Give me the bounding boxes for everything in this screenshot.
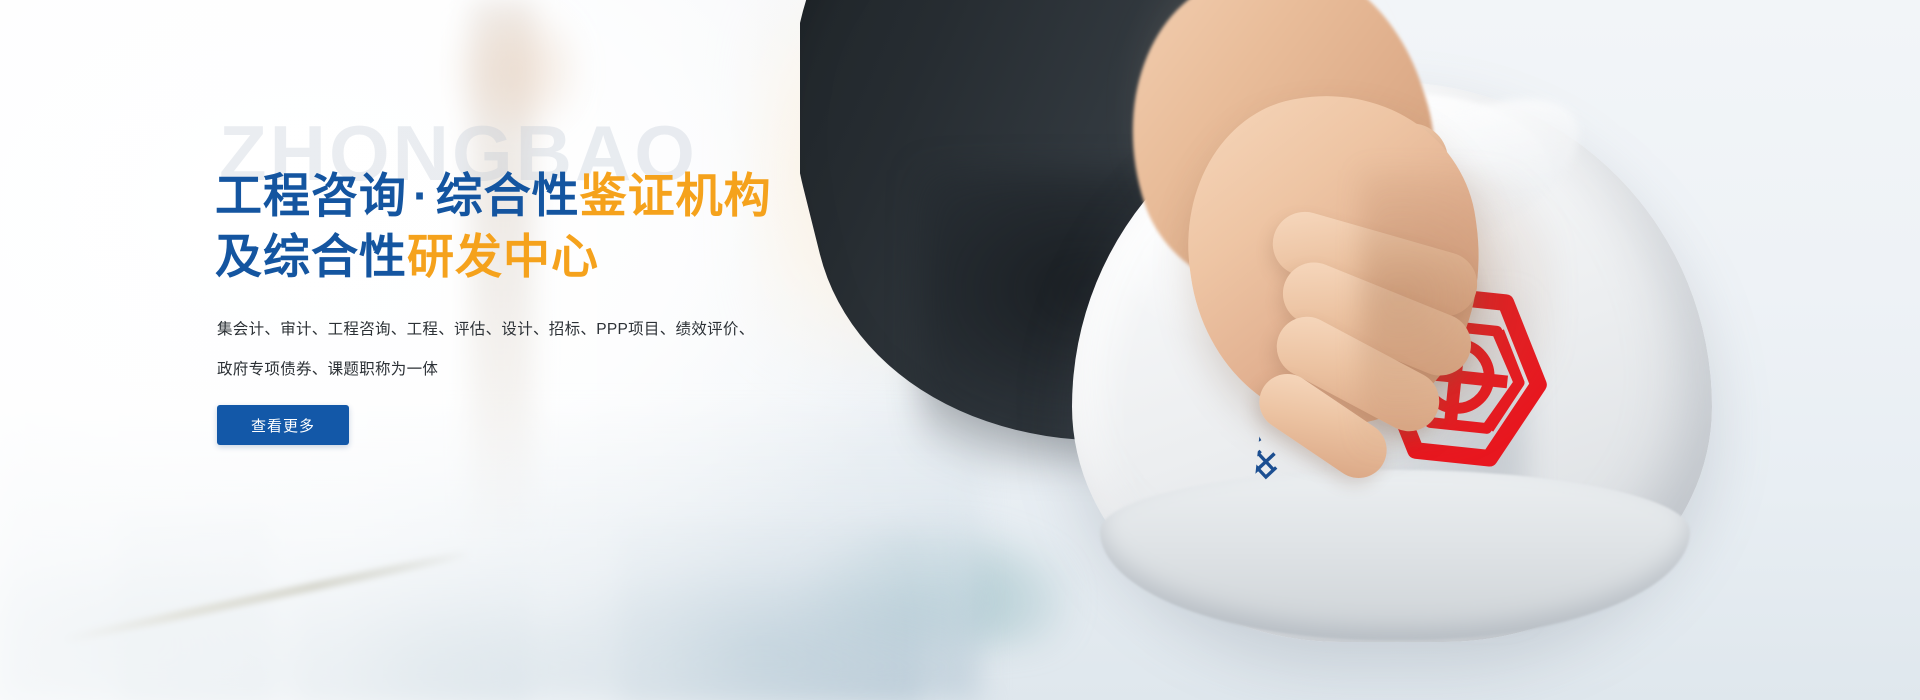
description-line-2: 政府专项债券、课题职称为一体	[217, 350, 807, 390]
headline-line-2: 及综合性研发中心	[215, 227, 955, 288]
hero-banner: 中宝工程管理 ZHO	[0, 0, 1920, 700]
headline-line1-part1: 工程咨询	[215, 169, 407, 222]
hand-shadow	[1360, 170, 1560, 450]
headline-line1-part2: 综合性	[436, 169, 580, 222]
headline-separator: ·	[407, 169, 436, 222]
headline-line-1: 工程咨询·综合性鉴证机构	[215, 166, 955, 227]
headline-line2-part2: 研发中心	[407, 230, 599, 283]
hero-headline: 工程咨询·综合性鉴证机构 及综合性研发中心	[215, 166, 955, 287]
hero-description: 集会计、审计、工程咨询、工程、评估、设计、招标、PPP项目、绩效评价、 政府专项…	[217, 310, 807, 389]
headline-line1-part3: 鉴证机构	[580, 169, 772, 222]
headline-line2-part1: 及综合性	[215, 230, 407, 283]
view-more-button[interactable]: 查看更多	[217, 405, 349, 445]
hero-content: ZHONGBAO 工程咨询·综合性鉴证机构 及综合性研发中心 集会计、审计、工程…	[215, 0, 975, 700]
description-line-1: 集会计、审计、工程咨询、工程、评估、设计、招标、PPP项目、绩效评价、	[217, 310, 807, 350]
